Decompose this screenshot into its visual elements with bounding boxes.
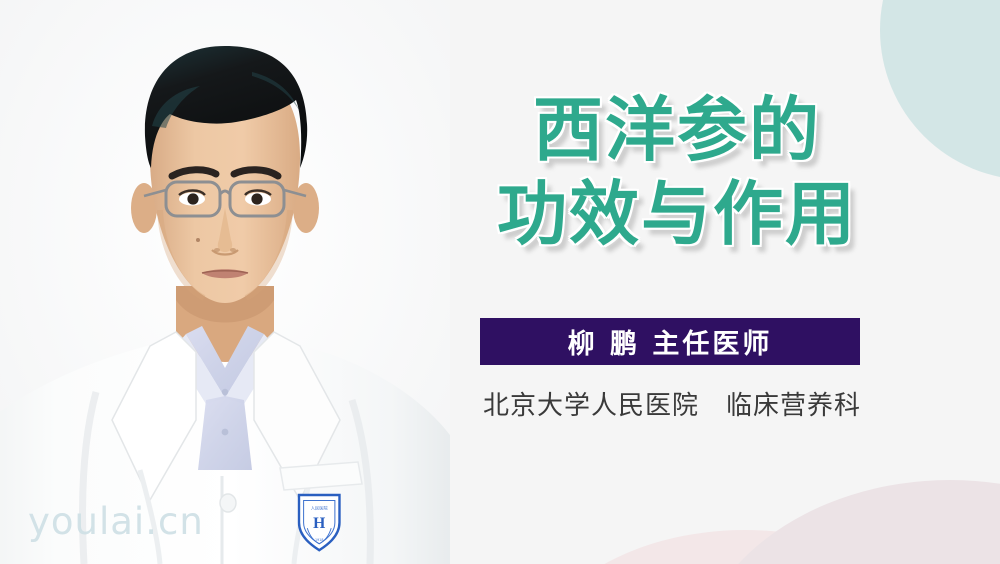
doctor-portrait-illustration: H 人民医院 1918 [0, 0, 450, 564]
svg-text:1918: 1918 [315, 538, 323, 542]
svg-text:人民医院: 人民医院 [311, 505, 329, 512]
status-badge: 柳 鹏 主任医师 [480, 318, 860, 365]
speaker-name-title: 柳 鹏 主任医师 [568, 322, 773, 361]
svg-text:H: H [313, 515, 325, 532]
title-line-1: 西洋参的 [462, 88, 892, 172]
title-line-2: 功效与作用 [462, 172, 892, 256]
content-column: 西洋参的 功效与作用 柳 鹏 主任医师 北京大学人民医院 临床营养科 [462, 0, 1000, 564]
video-cover-card: H 人民医院 1918 [0, 0, 1000, 564]
doctor-portrait: H 人民医院 1918 [0, 0, 450, 564]
page-title: 西洋参的 功效与作用 [462, 88, 892, 256]
watermark-youlai: youlai.cn [28, 500, 204, 543]
speaker-affiliation: 北京大学人民医院 临床营养科 [462, 385, 882, 422]
